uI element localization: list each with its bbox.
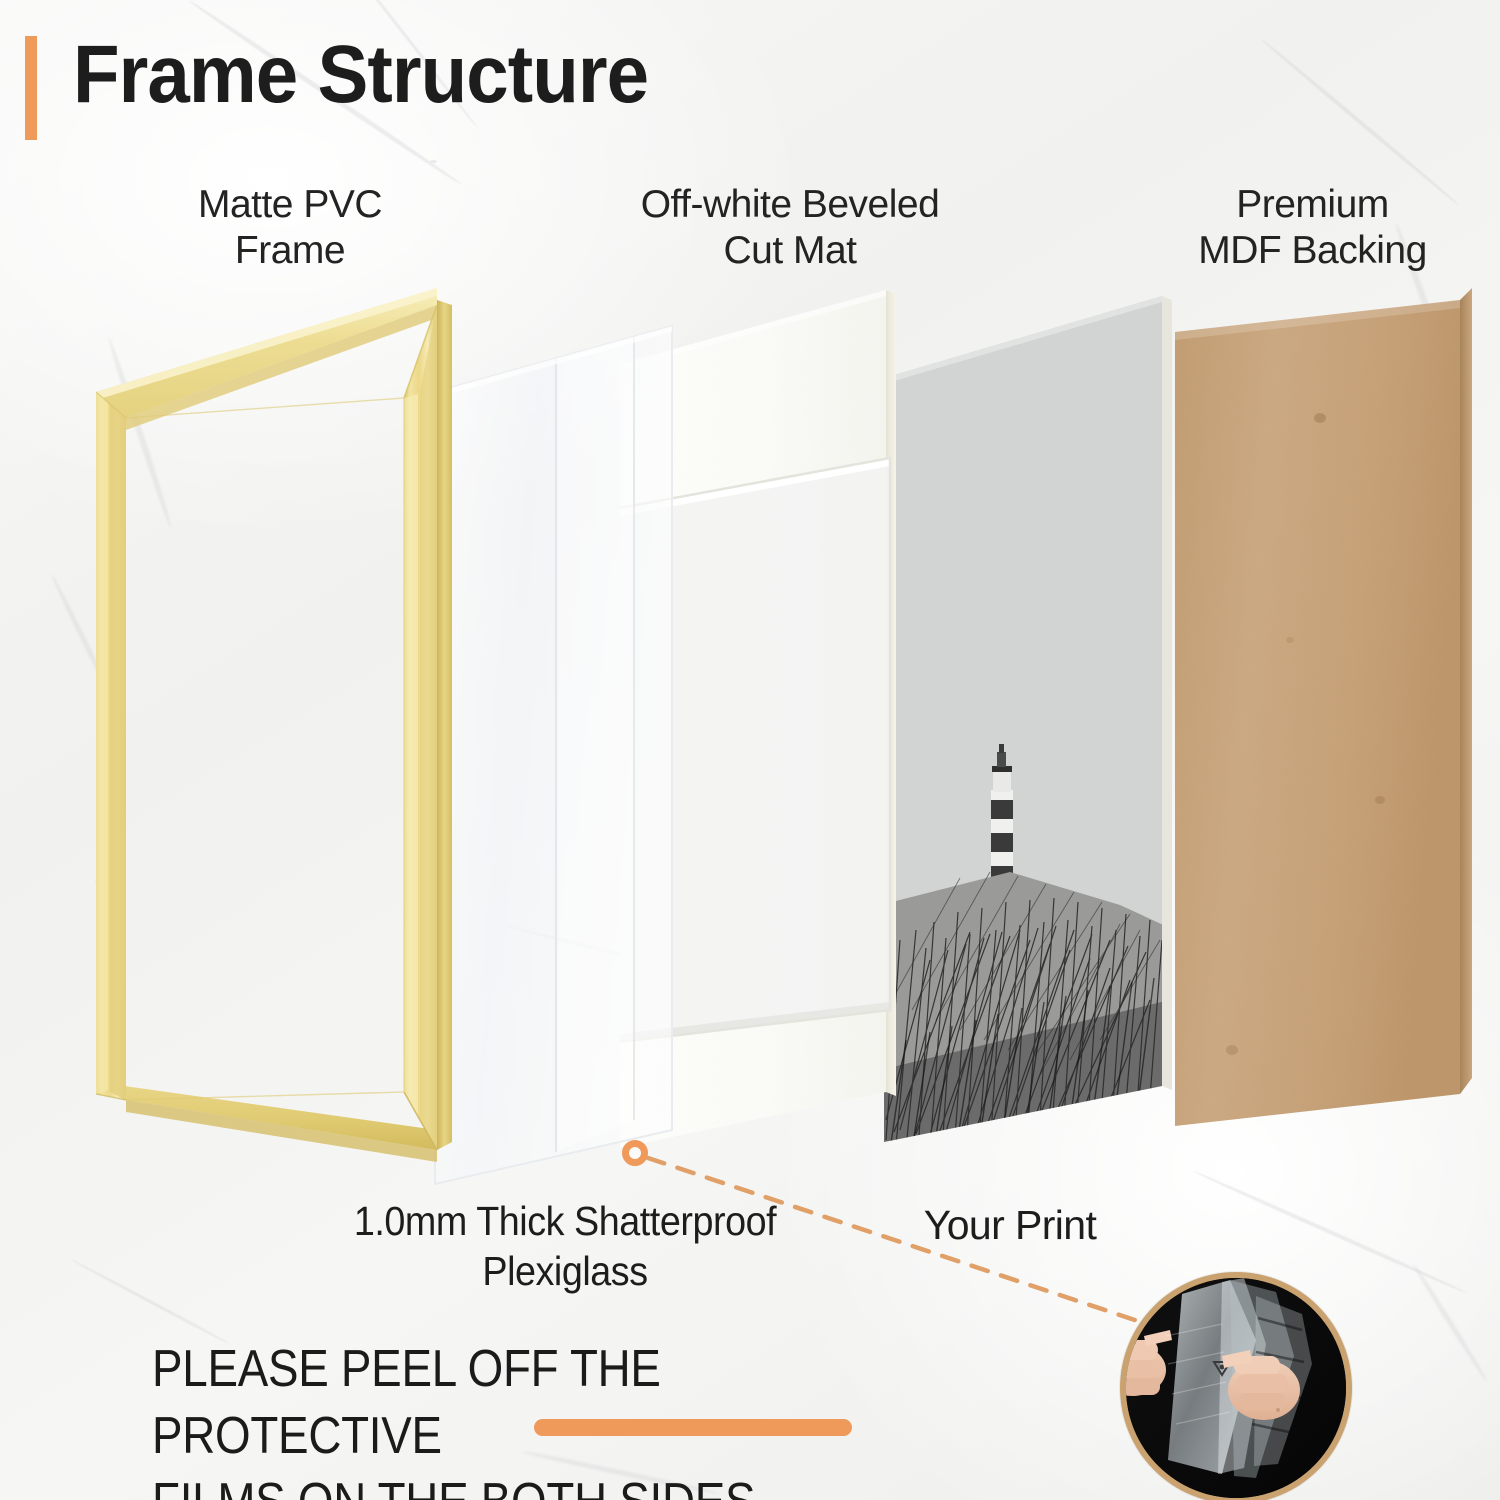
layer-plexiglass [435, 326, 672, 1184]
lighthouse-photo [880, 290, 1170, 1150]
peel-film-notice: PLEASE PEEL OFF THE PROTECTIVE FILMS ON … [152, 1336, 944, 1500]
infographic-canvas: Frame Structure Matte PVC Frame Off-whit… [0, 0, 1500, 1500]
layer-print [880, 290, 1172, 1150]
notice-line-2: FILMS ON THE BOTH SIDES [152, 1469, 944, 1500]
label-line-1: 1.0mm Thick [354, 1198, 564, 1244]
connector-marker-dot [622, 1140, 648, 1166]
inset-photo-clip [1126, 1278, 1346, 1498]
layer-pvc-frame [96, 288, 452, 1162]
layer-mdf-backing [1175, 288, 1472, 1126]
notice-line-1: PLEASE PEEL OFF THE PROTECTIVE [152, 1336, 944, 1469]
label-plexiglass: 1.0mm Thick Shatterproof Plexiglass [280, 1196, 850, 1296]
notice-highlight-bar [534, 1419, 852, 1436]
peel-film-inset-photo [1120, 1272, 1352, 1500]
label-your-print: Your Print [880, 1202, 1140, 1249]
